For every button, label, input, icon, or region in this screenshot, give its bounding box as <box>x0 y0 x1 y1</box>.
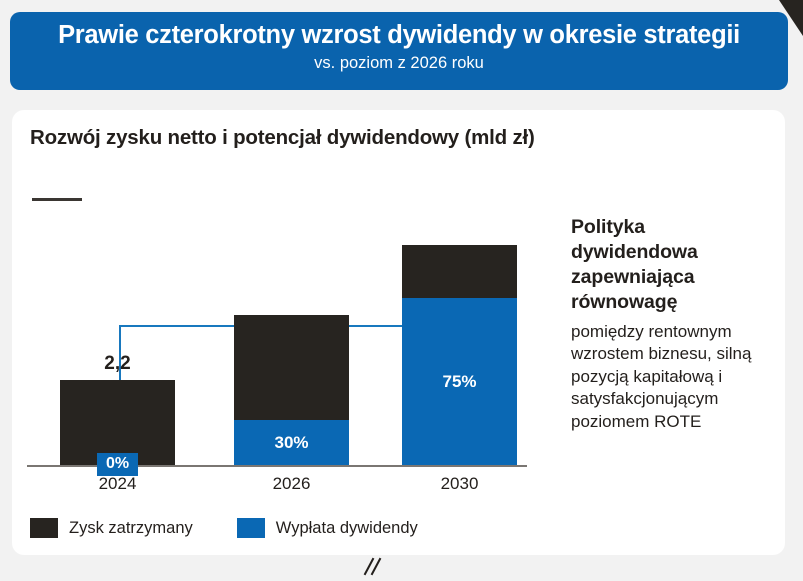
x-axis-tick-2030: 2030 <box>402 474 517 494</box>
legend-swatch-retained-icon <box>30 518 58 538</box>
header-banner: Prawie czterokrotny wzrost dywidendy w o… <box>10 12 788 90</box>
content-card: Rozwój zysku netto i potencjał dywidendo… <box>12 110 785 555</box>
bar-segment-dividend-2026[interactable]: 30% <box>234 420 349 465</box>
bar-value-label-2024: 2,2 <box>60 353 175 375</box>
header-subtitle: vs. poziom z 2026 roku <box>10 54 788 73</box>
bar-stack-2030[interactable]: 75% <box>402 245 517 465</box>
legend-label-dividend: Wypłata dywidendy <box>276 519 418 538</box>
bar-segment-retained-2026[interactable] <box>234 315 349 420</box>
side-note-panel: Polityka dywidendowa zapewniająca równow… <box>571 215 776 434</box>
x-axis-tick-2026: 2026 <box>234 474 349 494</box>
axis-break-marker <box>361 557 387 581</box>
legend-item-retained[interactable]: Zysk zatrzymany <box>30 518 193 538</box>
payout-percent-label-2026: 30% <box>234 433 349 453</box>
bar-segment-retained-2030[interactable] <box>402 245 517 298</box>
bar-stack-2026[interactable]: 30% <box>234 315 349 465</box>
bar-segment-dividend-2030[interactable]: 75% <box>402 298 517 465</box>
legend-item-dividend[interactable]: Wypłata dywidendy <box>237 518 418 538</box>
header-title: Prawie czterokrotny wzrost dywidendy w o… <box>10 21 788 50</box>
chart-legend: Zysk zatrzymany Wypłata dywidendy <box>30 518 462 538</box>
payout-percent-label-2030: 75% <box>402 372 517 392</box>
corner-fold-decoration <box>779 0 803 36</box>
x-axis-tick-2024: 2024 <box>60 474 175 494</box>
legend-swatch-dividend-icon <box>237 518 265 538</box>
legend-label-retained: Zysk zatrzymany <box>69 519 193 538</box>
side-note-body: pomiędzy rentownym wzrostem biznesu, sil… <box>571 321 776 434</box>
payout-percent-label-2024: 0% <box>97 453 138 476</box>
bar-chart-plot-area: 3,0x 2,2 30% 75% <box>12 110 552 510</box>
side-note-heading: Polityka dywidendowa zapewniająca równow… <box>571 215 776 316</box>
